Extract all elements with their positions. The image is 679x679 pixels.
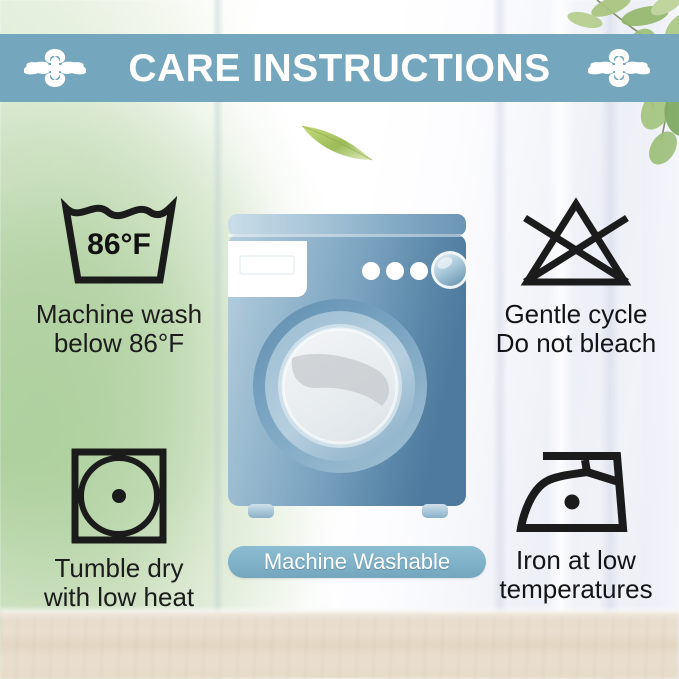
page-title: CARE INSTRUCTIONS — [128, 49, 550, 88]
machine-top-lid — [228, 214, 466, 236]
wash-temperature-label: 86°F — [87, 228, 151, 261]
table-grain-texture — [0, 617, 679, 679]
care-symbol-caption: Tumble dry with low heat — [44, 554, 194, 612]
machine-feet — [248, 504, 448, 518]
care-symbol-do-not-bleach: Gentle cycle Do not bleach — [478, 196, 674, 358]
washer-door — [253, 299, 427, 473]
fleur-de-lis-icon — [588, 45, 650, 91]
care-symbol-caption: Gentle cycle Do not bleach — [496, 300, 656, 358]
washing-machine-illustration — [222, 208, 472, 538]
tumble-dry-square-icon — [69, 446, 169, 546]
wash-tub-icon: 86°F — [56, 196, 182, 292]
status-badge-label: Machine Washable — [264, 551, 450, 573]
floating-leaf-icon — [298, 118, 376, 164]
fleur-de-lis-icon — [24, 45, 86, 91]
care-symbol-caption: Iron at low temperatures — [499, 546, 652, 604]
care-symbol-iron: Iron at low temperatures — [478, 446, 674, 604]
triangle-crossed-out-icon — [513, 196, 639, 292]
care-instructions-graphic: CARE INSTRUCTIONS — [0, 0, 679, 679]
care-symbol-caption: Machine wash below 86°F — [36, 300, 202, 358]
control-knob — [431, 251, 469, 289]
detergent-drawer — [228, 242, 306, 296]
iron-icon — [513, 446, 639, 538]
care-symbol-tumble-dry: Tumble dry with low heat — [16, 446, 222, 612]
care-symbol-machine-wash: 86°F Machine wash below 86°F — [16, 196, 222, 358]
machine-control-dots — [362, 262, 428, 280]
banner: CARE INSTRUCTIONS — [0, 34, 679, 102]
status-badge: Machine Washable — [228, 546, 486, 578]
